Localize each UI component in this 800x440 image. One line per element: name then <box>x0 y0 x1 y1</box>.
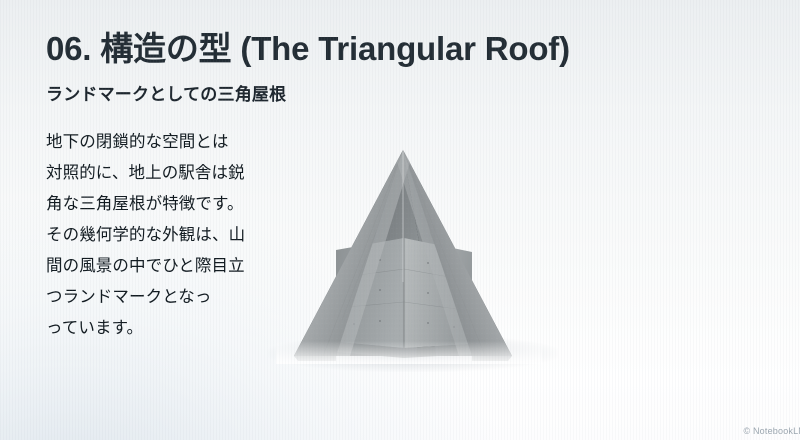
body-line: 地下の閉鎖的な空間とは <box>46 127 298 158</box>
slide-body: 地下の閉鎖的な空間とは 対照的に、地上の駅舎は鋭 角な三角屋根が特徴です。 その… <box>46 127 298 344</box>
body-line: 間の風景の中でひと際目立 <box>46 251 298 282</box>
text-column: 06. 構造の型 (The Triangular Roof) ランドマークとして… <box>46 30 646 344</box>
body-line: つランドマークとなっ <box>46 282 298 313</box>
body-line: 対照的に、地上の駅舎は鋭 <box>46 158 298 189</box>
body-line: っています。 <box>46 313 298 344</box>
notebooklm-watermark: © NotebookLM <box>743 426 800 436</box>
slide-canvas: 06. 構造の型 (The Triangular Roof) ランドマークとして… <box>0 0 800 440</box>
body-line: その幾何学的な外観は、山 <box>46 220 298 251</box>
slide-subtitle: ランドマークとしての三角屋根 <box>46 85 646 105</box>
body-line: 角な三角屋根が特徴です。 <box>46 189 298 220</box>
slide-title: 06. 構造の型 (The Triangular Roof) <box>46 30 646 68</box>
